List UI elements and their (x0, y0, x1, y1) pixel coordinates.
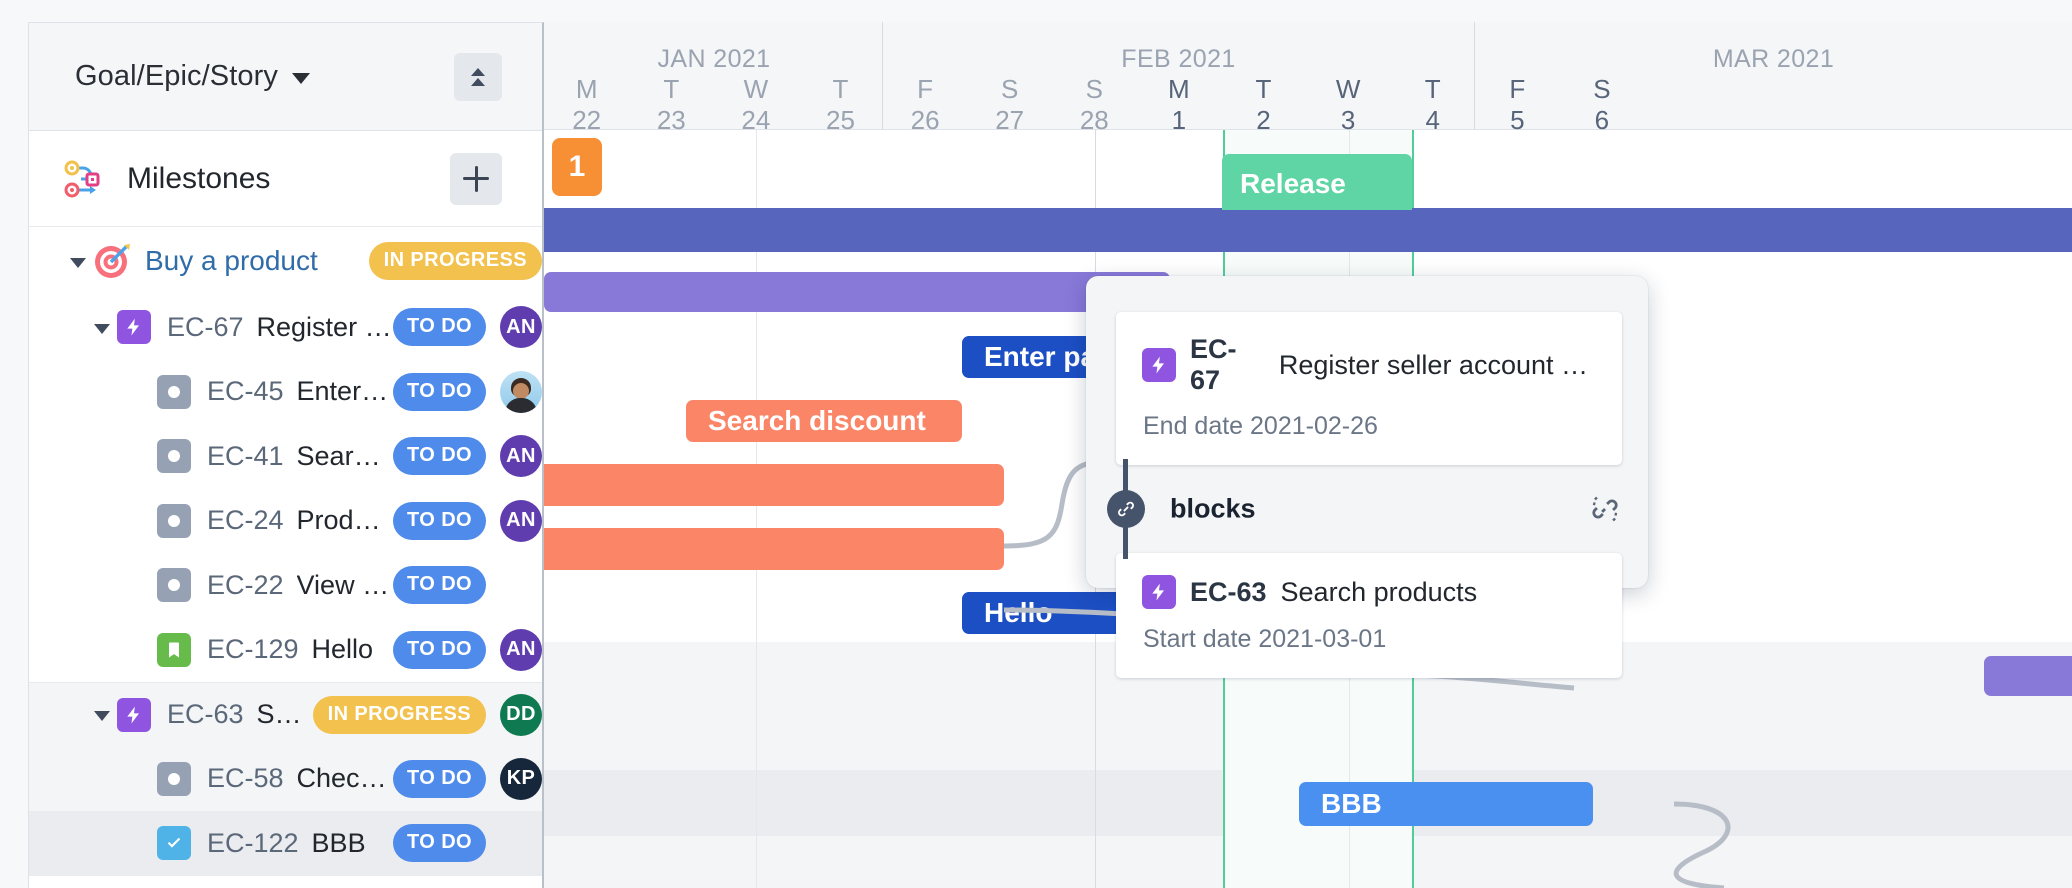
timeline-panel[interactable]: JAN 2021 FEB 2021 MAR 2021 T18F19S20S21M… (544, 22, 2072, 888)
milestones-label: Milestones (127, 162, 270, 196)
day-of-week: S (1052, 74, 1137, 104)
epic-icon (117, 310, 151, 344)
dependency-target-summary: Search products (1281, 577, 1478, 608)
avatar[interactable]: AN (500, 306, 542, 348)
collapse-all-button[interactable] (454, 53, 502, 101)
expand-toggle[interactable] (87, 708, 117, 721)
issue-key[interactable]: EC-58 (207, 763, 284, 794)
story-icon (157, 375, 191, 409)
avatar-placeholder (500, 564, 542, 606)
day-column-24: W24 (714, 74, 799, 136)
issue-summary[interactable]: Buy a product (145, 245, 318, 277)
story-icon (157, 439, 191, 473)
issue-summary[interactable]: BBB (312, 828, 366, 859)
avatar[interactable]: AN (500, 435, 542, 477)
status-badge[interactable]: TO DO (393, 502, 486, 540)
epic-icon (117, 698, 151, 732)
chevron-down-icon (70, 258, 86, 268)
avatar[interactable]: KP (500, 758, 542, 800)
issue-key[interactable]: EC-24 (207, 505, 284, 536)
bar-story-ec41[interactable]: Search discount (686, 400, 962, 442)
avatar[interactable]: AN (500, 629, 542, 671)
milestones-icon (63, 159, 109, 199)
dependency-popup[interactable]: EC-67 Register seller account u… End dat… (1086, 276, 1648, 588)
sidebar-row-ec-45[interactable]: EC-45Enter pa…TO DO (29, 360, 542, 425)
page-top-gutter (0, 0, 2072, 22)
issue-key[interactable]: EC-41 (207, 441, 284, 472)
timeline-header: JAN 2021 FEB 2021 MAR 2021 T18F19S20S21M… (544, 22, 2072, 130)
milestone-marker-1[interactable]: 1 (552, 138, 602, 196)
status-badge[interactable]: TO DO (393, 631, 486, 669)
goal-icon (93, 242, 131, 280)
issue-summary[interactable]: Search d… (297, 441, 394, 472)
issue-summary[interactable]: Product i… (297, 505, 394, 536)
status-badge[interactable]: TO DO (393, 824, 486, 862)
release-marker-label: Release (1222, 154, 1346, 200)
sidebar-row-ec-63[interactable]: EC-63Sear…IN PROGRESSDD (29, 682, 542, 747)
release-marker[interactable]: Release (1222, 154, 1412, 210)
day-of-week: T (1221, 74, 1306, 104)
sidebar: Goal/Epic/Story (28, 22, 544, 888)
status-badge[interactable]: TO DO (393, 308, 486, 346)
expand-toggle[interactable] (63, 255, 93, 268)
day-of-week: S (1560, 74, 1645, 104)
issue-key[interactable]: EC-67 (167, 312, 244, 343)
month-label-feb: FEB 2021 (883, 45, 1474, 74)
day-of-week: S (967, 74, 1052, 104)
sidebar-row-list: Buy a productIN PROGRESSEC-67Register s…… (29, 227, 542, 876)
status-badge[interactable]: TO DO (393, 437, 486, 475)
link-icon (1107, 490, 1145, 528)
story-icon (157, 504, 191, 538)
day-column-25: T25 (798, 74, 883, 136)
sidebar-row-ec-41[interactable]: EC-41Search d…TO DOAN (29, 424, 542, 489)
avatar[interactable] (500, 371, 542, 413)
avatar-placeholder (500, 822, 542, 864)
status-badge[interactable]: TO DO (393, 373, 486, 411)
day-column-26: F26 (883, 74, 968, 136)
bookmark-icon (157, 633, 191, 667)
dependency-target-key: EC-63 (1190, 577, 1267, 608)
day-of-week: M (544, 74, 629, 104)
dependency-source-summary: Register seller account u… (1279, 350, 1596, 381)
sidebar-row-ec-58[interactable]: EC-58CheckoutTO DOKP (29, 747, 542, 812)
issue-summary[interactable]: Hello (312, 634, 374, 665)
day-of-week: F (1475, 74, 1560, 104)
day-column-1: M1 (1137, 74, 1222, 136)
issue-summary[interactable]: Sear… (257, 699, 313, 730)
sidebar-row-ec-67[interactable]: EC-67Register s…TO DOAN (29, 295, 542, 360)
bar-task-ec122-label: BBB (1299, 788, 1382, 820)
chevron-down-icon (94, 324, 110, 334)
bar-epic-ec63[interactable] (1984, 656, 2072, 696)
day-of-week: W (714, 74, 799, 104)
day-of-week: T (798, 74, 883, 104)
bar-task-ec122[interactable]: BBB (1299, 782, 1593, 826)
bar-story-ec129-label: Hello (962, 597, 1052, 629)
issue-summary[interactable]: View seller p… (297, 570, 394, 601)
bar-story-ec22[interactable] (544, 528, 1004, 570)
milestone-marker-label: 1 (569, 150, 586, 184)
issue-key[interactable]: EC-22 (207, 570, 284, 601)
view-level-label: Goal/Epic/Story (75, 60, 278, 93)
day-column-22: M22 (544, 74, 629, 136)
sidebar-row-ec-129[interactable]: EC-129HelloTO DOAN (29, 618, 542, 683)
day-column-23: T23 (629, 74, 714, 136)
issue-key[interactable]: EC-45 (207, 376, 284, 407)
unlink-icon[interactable] (1588, 492, 1622, 526)
day-of-week: M (1137, 74, 1222, 104)
day-column-5: F5 (1475, 74, 1560, 136)
day-column-27: S27 (967, 74, 1052, 136)
milestones-row[interactable]: Milestones (29, 131, 542, 227)
dependency-target-card[interactable]: EC-63 Search products Start date 2021-03… (1116, 553, 1622, 678)
avatar[interactable]: DD (500, 694, 542, 736)
dependency-relation-label: blocks (1170, 494, 1256, 525)
dependency-source-key: EC-67 (1190, 334, 1265, 396)
story-icon (157, 762, 191, 796)
day-column-2: T2 (1221, 74, 1306, 136)
sidebar-header: Goal/Epic/Story (29, 23, 542, 131)
issue-summary[interactable]: Checkout (297, 763, 394, 794)
sidebar-row-ec-22[interactable]: EC-22View seller p…TO DO (29, 553, 542, 618)
avatar[interactable]: AN (500, 500, 542, 542)
chevron-down-icon (94, 711, 110, 721)
bar-epic-ec67[interactable] (544, 272, 1170, 312)
sidebar-row-goal[interactable]: Buy a productIN PROGRESS (29, 227, 542, 295)
roadmap-app: JAN 2021 FEB 2021 MAR 2021 T18F19S20S21M… (0, 0, 2072, 888)
bar-goal-buy-a-product[interactable] (544, 208, 2072, 252)
epic-icon (1142, 575, 1176, 609)
chevron-down-icon (292, 73, 310, 84)
dependency-target-date: Start date 2021-03-01 (1143, 625, 1596, 654)
chevron-up-icon (471, 78, 485, 86)
add-milestone-button[interactable] (450, 153, 502, 205)
story-icon (157, 568, 191, 602)
day-of-week: F (883, 74, 968, 104)
page-left-gutter (0, 0, 28, 888)
dependency-relation-row: blocks (1086, 465, 1648, 553)
sidebar-row-ec-24[interactable]: EC-24Product i…TO DOAN (29, 489, 542, 554)
status-badge[interactable]: IN PROGRESS (313, 696, 486, 734)
day-column-4: T4 (1390, 74, 1475, 136)
task-icon (157, 826, 191, 860)
issue-summary[interactable]: Enter pa… (297, 376, 394, 407)
epic-icon (1142, 348, 1176, 382)
issue-summary[interactable]: Register s… (257, 312, 394, 343)
dependency-source-card[interactable]: EC-67 Register seller account u… End dat… (1116, 312, 1622, 465)
day-column-6: S6 (1560, 74, 1645, 136)
issue-key[interactable]: EC-129 (207, 634, 299, 665)
issue-key[interactable]: EC-63 (167, 699, 244, 730)
expand-toggle[interactable] (87, 321, 117, 334)
day-column-28: S28 (1052, 74, 1137, 136)
view-level-selector[interactable]: Goal/Epic/Story (75, 60, 310, 93)
bar-story-ec24[interactable] (544, 464, 1004, 506)
dependency-source-date: End date 2021-02-26 (1143, 412, 1596, 441)
issue-key[interactable]: EC-122 (207, 828, 299, 859)
status-badge[interactable]: IN PROGRESS (369, 242, 542, 280)
bar-story-ec41-label: Search discount (686, 405, 926, 437)
month-label-jan: JAN 2021 (545, 45, 883, 74)
day-of-week: T (629, 74, 714, 104)
sidebar-row-ec-122[interactable]: EC-122BBBTO DO (29, 811, 542, 876)
day-column-3: W3 (1306, 74, 1391, 136)
chevron-up-icon (471, 68, 485, 76)
day-of-week: T (1390, 74, 1475, 104)
month-label-mar: MAR 2021 (1475, 45, 2072, 74)
status-badge[interactable]: TO DO (393, 566, 486, 604)
status-badge[interactable]: TO DO (393, 760, 486, 798)
day-of-week: W (1306, 74, 1391, 104)
